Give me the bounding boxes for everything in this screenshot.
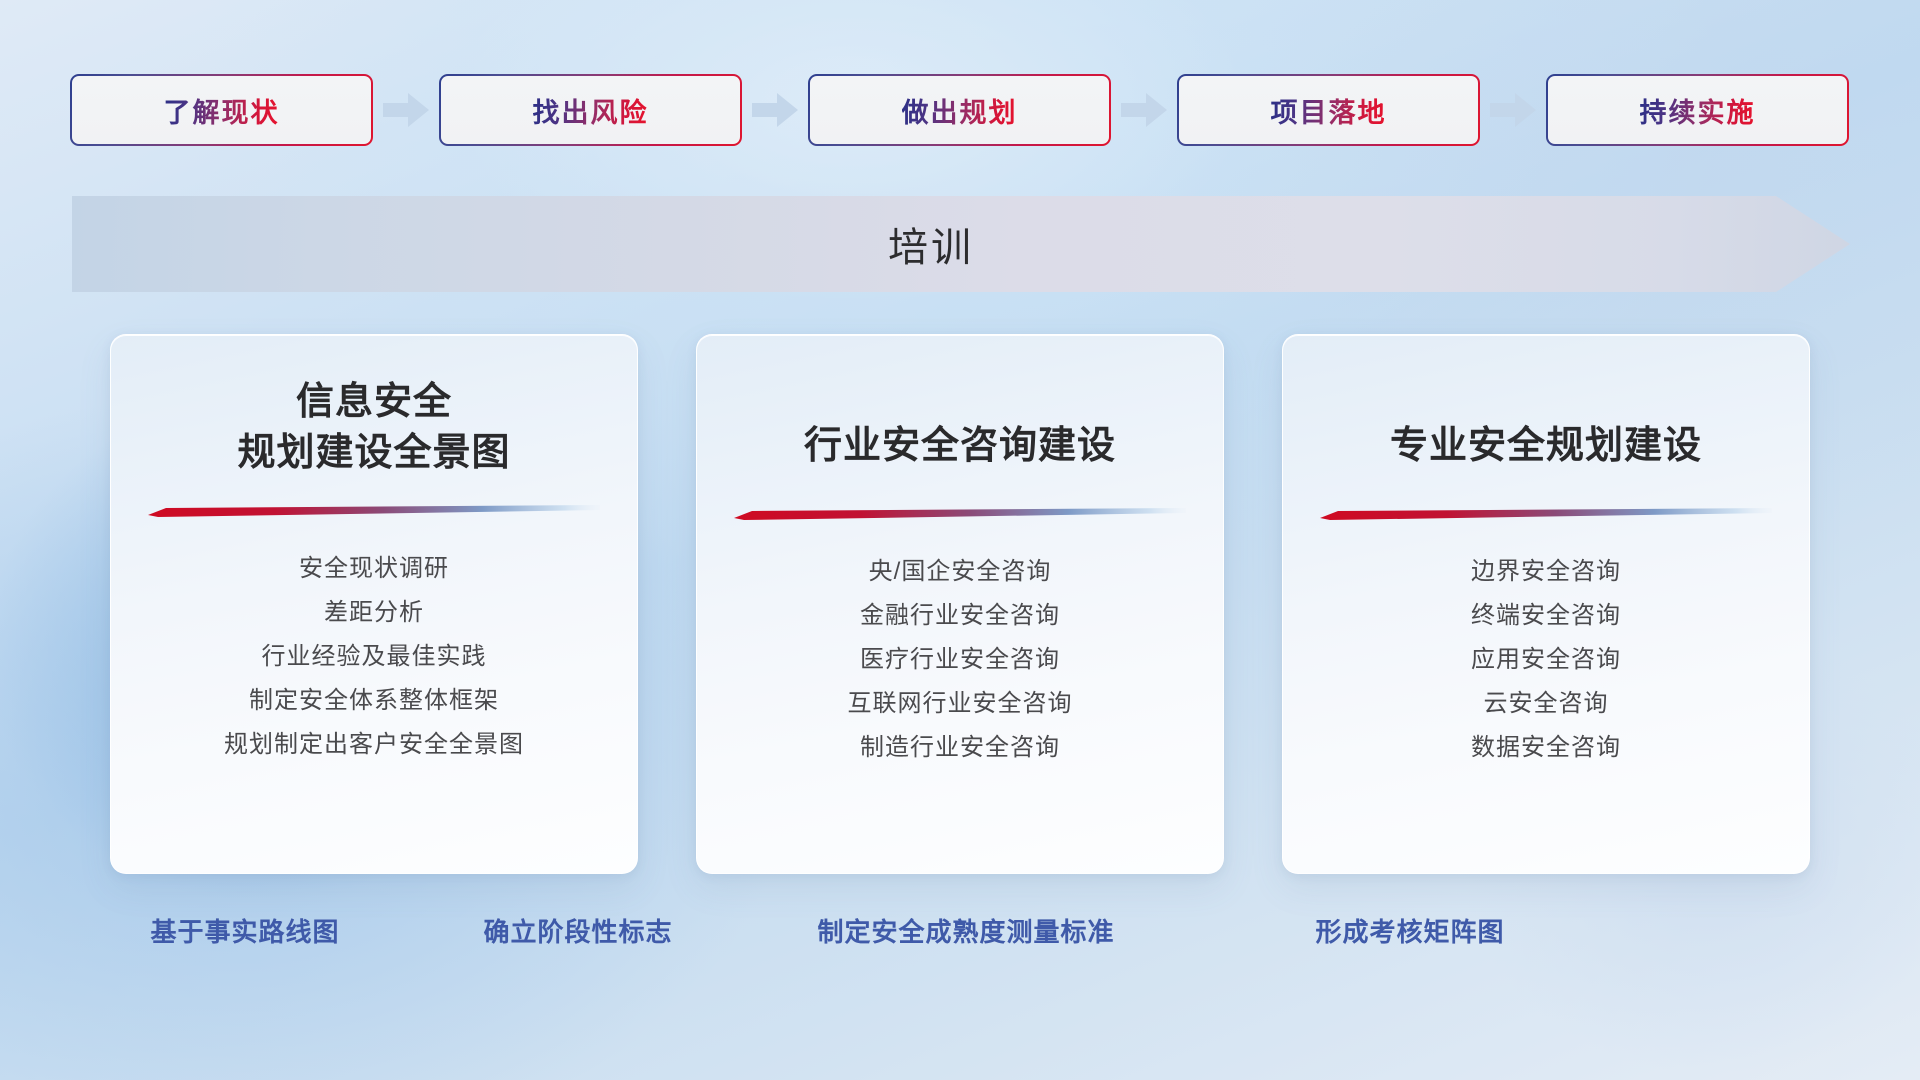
arrow-right-icon — [1480, 74, 1546, 146]
step-label-3: 做出规划 — [902, 91, 1018, 130]
card-1-title-line2: 规划建设全景图 — [237, 432, 510, 474]
card-1-title: 信息安全 规划建设全景图 — [215, 377, 532, 479]
list-item: 终端安全咨询 — [1283, 594, 1809, 638]
step-box-3[interactable]: 做出规划 — [808, 74, 1111, 146]
banner-label: 培训 — [72, 196, 1850, 292]
bottom-label-1: 基于事实路线图 — [150, 912, 339, 949]
list-item: 安全现状调研 — [111, 547, 637, 591]
card-1-divider — [148, 505, 600, 517]
arrow-right-icon — [373, 74, 439, 146]
step-box-5[interactable]: 持续实施 — [1546, 74, 1849, 146]
step-label-5: 持续实施 — [1640, 91, 1756, 130]
bottom-label-3: 制定安全成熟度测量标准 — [817, 912, 1114, 949]
slide-canvas: 了解现状 找出风险 做出规划 项目落地 — [0, 0, 1920, 1080]
step-box-4[interactable]: 项目落地 — [1177, 74, 1480, 146]
list-item: 应用安全咨询 — [1283, 638, 1809, 682]
card-1-title-line1: 信息安全 — [296, 381, 452, 423]
arrow-right-icon — [1111, 74, 1177, 146]
card-row: 信息安全 规划建设全景图 — [110, 334, 1810, 874]
step-box-1[interactable]: 了解现状 — [70, 74, 373, 146]
card-1-list: 安全现状调研 差距分析 行业经验及最佳实践 制定安全体系整体框架 规划制定出客户… — [111, 547, 637, 767]
step-label-4: 项目落地 — [1271, 91, 1387, 130]
bottom-label-row: 基于事实路线图 确立阶段性标志 制定安全成熟度测量标准 形成考核矩阵图 — [0, 912, 1920, 972]
card-3-divider — [1320, 508, 1772, 520]
list-item: 边界安全咨询 — [1283, 550, 1809, 594]
card-1[interactable]: 信息安全 规划建设全景图 — [110, 334, 638, 874]
card-2[interactable]: 行业安全咨询建设 — [696, 334, 1224, 874]
list-item: 央/国企安全咨询 — [697, 550, 1223, 594]
card-2-divider — [734, 508, 1186, 520]
process-step-row: 了解现状 找出风险 做出规划 项目落地 — [70, 74, 1850, 146]
card-3-list: 边界安全咨询 终端安全咨询 应用安全咨询 云安全咨询 数据安全咨询 — [1283, 550, 1809, 770]
list-item: 互联网行业安全咨询 — [697, 682, 1223, 726]
step-label-2: 找出风险 — [533, 91, 649, 130]
list-item: 医疗行业安全咨询 — [697, 638, 1223, 682]
list-item: 行业经验及最佳实践 — [111, 635, 637, 679]
step-label-1: 了解现状 — [164, 91, 280, 130]
list-item: 制定安全体系整体框架 — [111, 679, 637, 723]
card-2-list: 央/国企安全咨询 金融行业安全咨询 医疗行业安全咨询 互联网行业安全咨询 制造行… — [697, 550, 1223, 770]
list-item: 数据安全咨询 — [1283, 726, 1809, 770]
list-item: 云安全咨询 — [1283, 682, 1809, 726]
bottom-label-4: 形成考核矩阵图 — [1315, 912, 1504, 949]
card-2-title: 行业安全咨询建设 — [782, 421, 1138, 472]
background-glow-top — [300, 0, 1400, 380]
card-3-title-line1: 专业安全规划建设 — [1390, 425, 1702, 467]
list-item: 规划制定出客户安全全景图 — [111, 723, 637, 767]
list-item: 差距分析 — [111, 591, 637, 635]
card-3-title: 专业安全规划建设 — [1368, 421, 1724, 472]
step-box-2[interactable]: 找出风险 — [439, 74, 742, 146]
bottom-label-2: 确立阶段性标志 — [483, 912, 672, 949]
training-banner: 培训 — [72, 196, 1850, 292]
list-item: 制造行业安全咨询 — [697, 726, 1223, 770]
card-3[interactable]: 专业安全规划建设 — [1282, 334, 1810, 874]
list-item: 金融行业安全咨询 — [697, 594, 1223, 638]
arrow-right-icon — [742, 74, 808, 146]
card-2-title-line1: 行业安全咨询建设 — [804, 425, 1116, 467]
